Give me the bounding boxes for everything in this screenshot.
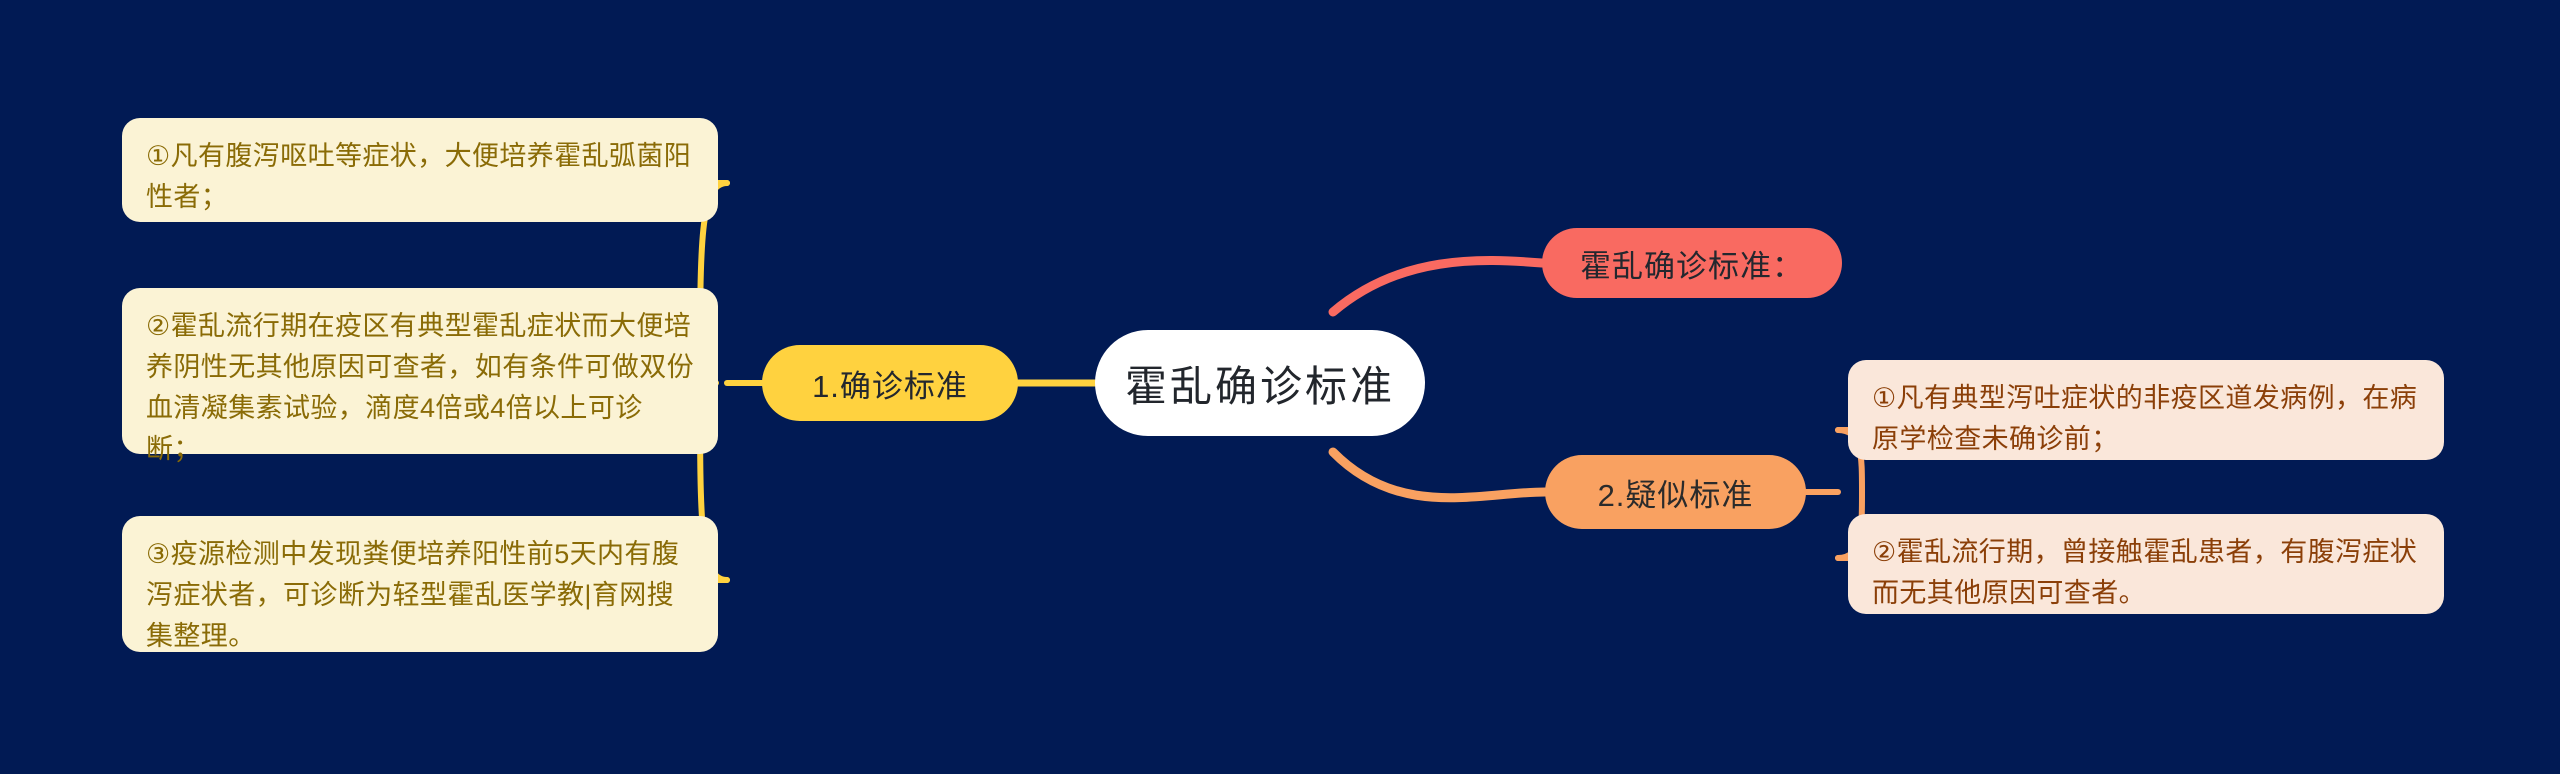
edge-root-to-title-note <box>1333 261 1542 312</box>
note-card-suspected-1[interactable]: ①凡有典型泻吐症状的非疫区道发病例，在病原学检查未确诊前； <box>1848 360 2444 460</box>
branch-node-suspected-label: 2.疑似标准 <box>1598 470 1754 515</box>
mindmap-canvas: ①凡有腹泻呕吐等症状，大便培养霍乱弧菌阳性者； ②霍乱流行期在疫区有典型霍乱症状… <box>0 0 2560 774</box>
root-node[interactable]: 霍乱确诊标准 <box>1095 330 1425 436</box>
branch-node-suspected[interactable]: 2.疑似标准 <box>1545 455 1806 529</box>
branch-node-confirmed[interactable]: 1.确诊标准 <box>762 345 1018 421</box>
note-card-suspected-2[interactable]: ②霍乱流行期，曾接触霍乱患者，有腹泻症状而无其他原因可查者。 <box>1848 514 2444 614</box>
edge-root-to-suspected <box>1333 452 1545 498</box>
note-card-confirmed-3[interactable]: ③疫源检测中发现粪便培养阳性前5天内有腹泻症状者，可诊断为轻型霍乱医学教|育网搜… <box>122 516 718 652</box>
root-node-label: 霍乱确诊标准 <box>1125 353 1395 414</box>
branch-node-confirmed-label: 1.确诊标准 <box>812 361 968 406</box>
branch-node-title-note[interactable]: 霍乱确诊标准： <box>1542 228 1842 298</box>
note-card-confirmed-2[interactable]: ②霍乱流行期在疫区有典型霍乱症状而大便培养阴性无其他原因可查者，如有条件可做双份… <box>122 288 718 454</box>
branch-node-title-note-label: 霍乱确诊标准： <box>1580 241 1804 286</box>
note-card-confirmed-1[interactable]: ①凡有腹泻呕吐等症状，大便培养霍乱弧菌阳性者； <box>122 118 718 222</box>
